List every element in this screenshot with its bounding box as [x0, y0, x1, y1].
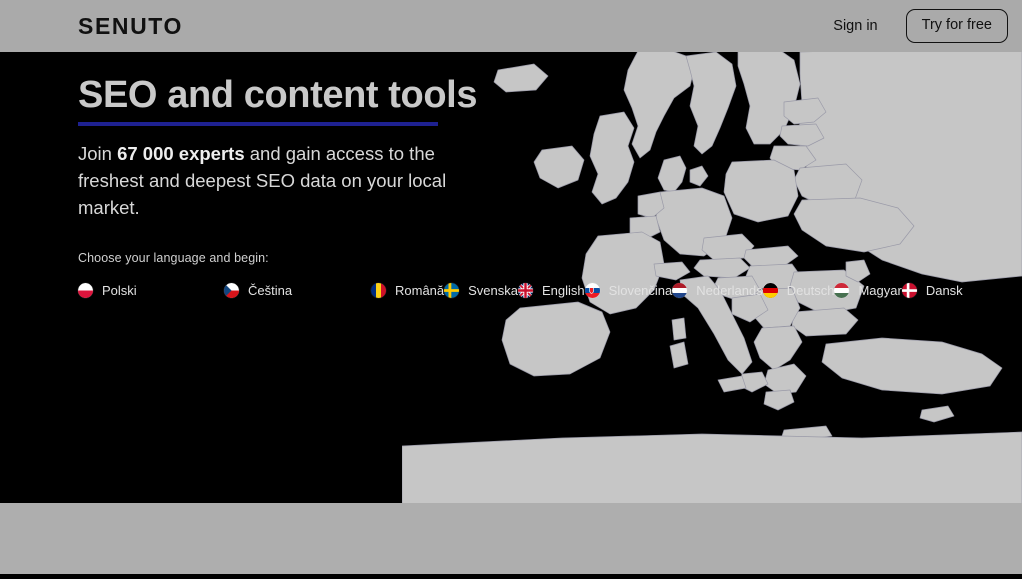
language-option-polski[interactable]: Polski: [78, 279, 224, 303]
subhead-lead: Join: [78, 143, 117, 164]
flag-hungary-icon: [834, 283, 849, 298]
hero-content: SEO and content tools Join 67 000 expert…: [78, 52, 548, 303]
flag-uk-icon: [518, 283, 533, 298]
flag-sweden-icon: [444, 283, 459, 298]
headline-accent-rule: [78, 122, 438, 126]
language-label: Deutsch: [787, 284, 835, 297]
language-option-nederlands[interactable]: Nederlands: [672, 279, 763, 303]
site-header: SENUTO Sign in Try for free: [0, 0, 1022, 52]
language-option-romana[interactable]: Română: [371, 279, 444, 303]
language-label: Svenska: [468, 284, 518, 297]
language-option-english[interactable]: English: [518, 279, 585, 303]
flag-poland-icon: [78, 283, 93, 298]
language-label: English: [542, 284, 585, 297]
language-label: Nederlands: [696, 284, 763, 297]
language-label: Magyar: [858, 284, 901, 297]
language-list: Polski Čeština Română: [78, 279, 548, 303]
flag-czechia-icon: [224, 283, 239, 298]
hero-headline: SEO and content tools: [78, 52, 477, 117]
hero-section: SEO and content tools Join 67 000 expert…: [0, 52, 1022, 503]
language-label: Dansk: [926, 284, 963, 297]
hero-subheadline: Join 67 000 experts and gain access to t…: [78, 140, 503, 221]
viewport-bottom-edge: [0, 574, 1022, 579]
language-label: Română: [395, 284, 444, 297]
language-label: Slovenčina: [609, 284, 673, 297]
page-root: SENUTO Sign in Try for free: [0, 0, 1022, 579]
senuto-logo[interactable]: SENUTO: [78, 15, 183, 38]
language-option-deutsch[interactable]: Deutsch: [763, 279, 835, 303]
flag-slovakia-icon: [585, 283, 600, 298]
language-prompt: Choose your language and begin:: [78, 251, 548, 265]
language-option-magyar[interactable]: Magyar: [834, 279, 901, 303]
flag-denmark-icon: [902, 283, 917, 298]
next-section-placeholder: [0, 503, 1022, 574]
flag-netherlands-icon: [672, 283, 687, 298]
language-label: Čeština: [248, 284, 292, 297]
language-option-dansk[interactable]: Dansk: [902, 279, 963, 303]
language-label: Polski: [102, 284, 137, 297]
flag-germany-icon: [763, 283, 778, 298]
language-option-svenska[interactable]: Svenska: [444, 279, 518, 303]
language-option-slovencina[interactable]: Slovenčina: [585, 279, 673, 303]
try-for-free-button[interactable]: Try for free: [906, 9, 1008, 43]
flag-romania-icon: [371, 283, 386, 298]
sign-in-link[interactable]: Sign in: [833, 18, 877, 34]
language-option-cestina[interactable]: Čeština: [224, 279, 371, 303]
subhead-highlight: 67 000 experts: [117, 143, 245, 164]
